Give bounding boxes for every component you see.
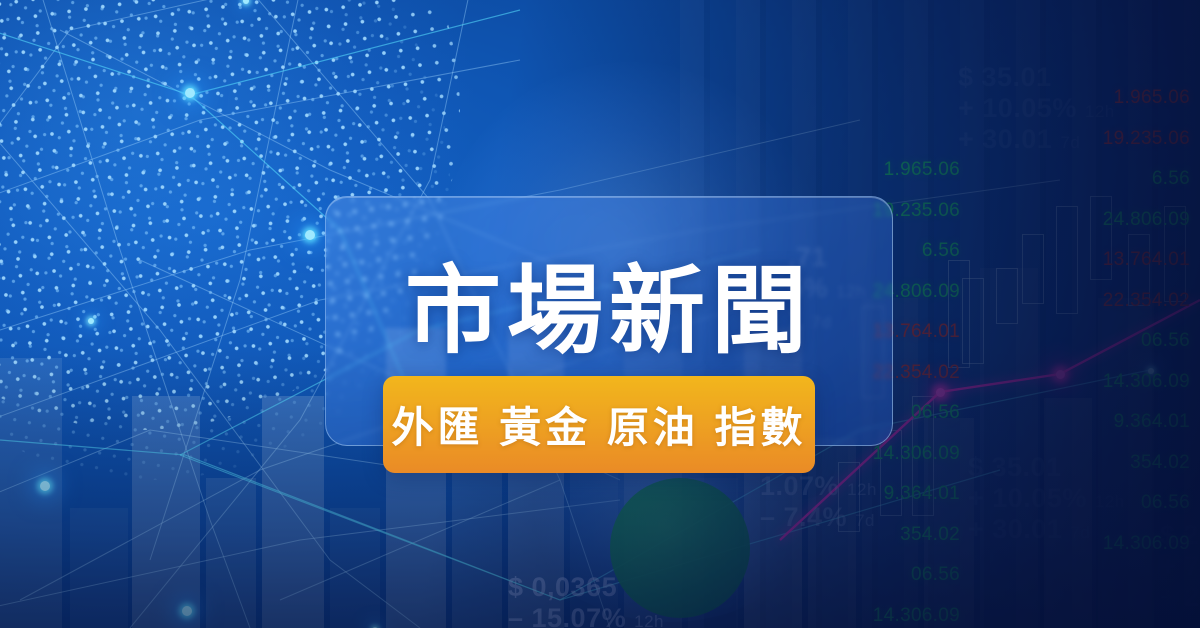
category-tag-label: 外匯 黃金 原油 指數 — [391, 394, 806, 455]
market-news-banner: $ 35.01 + 10.05% 12h + 30.01 7d $ 35.01 … — [0, 0, 1200, 628]
page-title: 市場新聞 — [326, 233, 892, 372]
category-tag-button[interactable]: 外匯 黃金 原油 指數 — [383, 376, 815, 473]
